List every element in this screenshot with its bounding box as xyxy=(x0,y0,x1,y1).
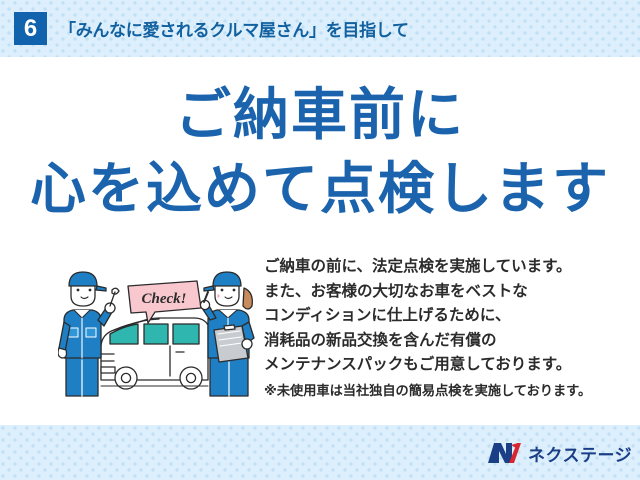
check-bubble-label: Check! xyxy=(142,291,187,307)
body-note: ※未使用車は当社独自の簡易点検を実施しております。 xyxy=(264,380,630,402)
header: 6 「みんなに愛されるクルマ屋さん」を目指して xyxy=(0,0,640,57)
body-copy: ご納車の前に、法定点検を実施しています。 また、お客様の大切なお車をベストな コ… xyxy=(264,255,630,402)
headline: ご納車前に 心を込めて点検します xyxy=(0,78,640,226)
body-line: コンディションに仕上げるために、 xyxy=(264,304,630,329)
brand-name: ネクステージ xyxy=(528,441,632,466)
promo-poster: 6 「みんなに愛されるクルマ屋さん」を目指して ご納車前に 心を込めて点検します… xyxy=(0,0,640,480)
step-number-badge: 6 xyxy=(14,12,47,45)
body-line: メンテナンスパックもご用意しております。 xyxy=(264,353,630,378)
nextage-n-mark-icon xyxy=(487,442,521,464)
headline-line-2: 心を込めて点検します xyxy=(0,152,640,226)
body-line: また、お客様の大切なお車をベストな xyxy=(264,280,630,305)
van-illustration xyxy=(101,318,208,389)
mechanics-illustration: Check! xyxy=(58,268,263,400)
header-title: 「みんなに愛されるクルマ屋さん」を目指して xyxy=(59,16,409,41)
headline-line-1: ご納車前に xyxy=(0,78,640,152)
body-line: 消耗品の新品交換を含んだ有償の xyxy=(264,329,630,354)
brand-logo: ネクステージ xyxy=(487,440,632,466)
body-line: ご納車の前に、法定点検を実施しています。 xyxy=(264,255,630,280)
